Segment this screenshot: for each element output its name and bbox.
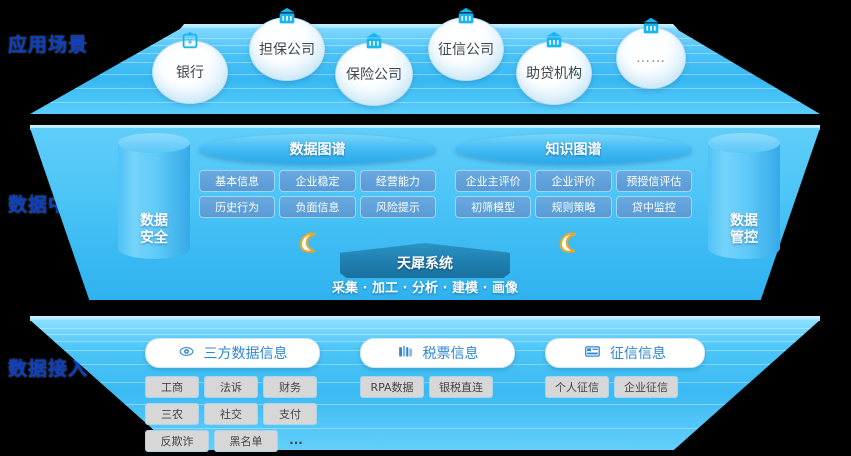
scenario-bubble-insurance[interactable]: 保险公司 (335, 42, 413, 106)
scenario-bubble-label: …… (636, 50, 666, 66)
panel-knowledge-graph: 知识图谱 企业主评价 企业评价 预授信评估 初筛模型 规则策略 贷中监控 (455, 134, 692, 218)
bank-building-icon (276, 6, 298, 28)
tag-item[interactable]: 风险提示 (360, 196, 436, 218)
tag-item[interactable]: 预授信评估 (616, 170, 692, 192)
source-header[interactable]: 税票信息 (360, 338, 515, 368)
architecture-diagram: 应用场景 数据中台 数据接入 银行 ¥ 担保公司 (0, 0, 851, 456)
tag-item[interactable]: 企业评价 (535, 170, 611, 192)
data-security-cylinder[interactable]: 数据 安全 (118, 133, 190, 259)
tag-item[interactable]: 规则策略 (535, 196, 611, 218)
source-tag-list: RPA数据 银税直连 (360, 376, 515, 398)
bank-building-icon (455, 6, 477, 28)
source-tag[interactable]: 财务 (263, 376, 317, 398)
invoice-icon (397, 343, 414, 364)
scenario-bubble-credit-agency[interactable]: 征信公司 (428, 17, 504, 81)
panel-title: 知识图谱 (546, 139, 602, 159)
source-tag[interactable]: 个人征信 (545, 376, 609, 398)
panel-title: 数据图谱 (290, 139, 346, 159)
source-tag[interactable]: 银税直连 (429, 376, 493, 398)
scenario-bubble-others[interactable]: …… (616, 27, 686, 89)
source-tag[interactable]: 法诉 (204, 376, 258, 398)
swoosh-arrow-left-icon (296, 230, 322, 256)
scenario-bubble-label: 担保公司 (259, 39, 315, 59)
source-tag[interactable]: 黑名单 (214, 430, 278, 452)
source-tax-invoice: 税票信息 RPA数据 银税直连 (360, 338, 515, 398)
credit-card-icon (584, 343, 601, 364)
scenario-bubble-bank[interactable]: 银行 ¥ (152, 40, 228, 104)
layer-label-application: 应用场景 (8, 30, 88, 57)
scenario-bubble-loan-agency[interactable]: 助贷机构 (516, 41, 592, 105)
scenario-bubble-label: 征信公司 (438, 39, 494, 59)
scenario-bubble-label: 保险公司 (346, 64, 402, 84)
source-tag[interactable]: 三农 (145, 403, 199, 425)
source-tag[interactable]: RPA数据 (360, 376, 424, 398)
panel-knowledge-graph-header[interactable]: 知识图谱 (455, 134, 692, 164)
core-system-subtitle: 采集 · 加工 · 分析 · 建模 · 画像 (310, 277, 540, 296)
bank-building-icon (543, 30, 565, 52)
panel-data-graph-header[interactable]: 数据图谱 (199, 134, 436, 164)
application-platform (30, 28, 820, 114)
scenario-bubble-guarantee[interactable]: 担保公司 (249, 17, 325, 81)
data-governance-cylinder[interactable]: 数据 管控 (708, 133, 780, 259)
source-header[interactable]: 三方数据信息 (145, 338, 320, 368)
tag-item[interactable]: 负面信息 (279, 196, 355, 218)
svg-text:¥: ¥ (187, 37, 192, 47)
bank-building-icon (640, 16, 662, 38)
source-tag-list: 个人征信 企业征信 (545, 376, 705, 398)
data-security-label: 数据 安全 (118, 213, 190, 247)
source-title: 税票信息 (423, 343, 479, 363)
tag-item[interactable]: 企业稳定 (279, 170, 355, 192)
source-tag[interactable]: 反欺诈 (145, 430, 209, 452)
source-tag-list: 工商 法诉 财务 三农 社交 支付 反欺诈 黑名单 ... (145, 376, 320, 452)
source-tag[interactable]: 工商 (145, 376, 199, 398)
tag-item[interactable]: 企业主评价 (455, 170, 531, 192)
source-tag[interactable]: 支付 (263, 403, 317, 425)
source-third-party-data: 三方数据信息 工商 法诉 财务 三农 社交 支付 反欺诈 黑名单 ... (145, 338, 320, 452)
eye-icon (178, 343, 195, 364)
panel-knowledge-graph-tags: 企业主评价 企业评价 预授信评估 初筛模型 规则策略 贷中监控 (455, 170, 692, 218)
source-credit-report: 征信信息 个人征信 企业征信 (545, 338, 705, 398)
data-governance-label: 数据 管控 (708, 213, 780, 247)
core-system-title: 天犀系统 (397, 253, 453, 273)
bank-money-icon: ¥ (179, 29, 201, 51)
tag-item[interactable]: 贷中监控 (616, 196, 692, 218)
source-tag[interactable]: 社交 (204, 403, 258, 425)
tag-item[interactable]: 经营能力 (360, 170, 436, 192)
swoosh-arrow-right-icon (556, 230, 582, 256)
panel-data-graph-tags: 基本信息 企业稳定 经营能力 历史行为 负面信息 风险提示 (199, 170, 436, 218)
source-title: 三方数据信息 (204, 343, 288, 363)
source-tag[interactable]: 企业征信 (614, 376, 678, 398)
scenario-bubble-label: 银行 (176, 62, 204, 82)
tag-item[interactable]: 初筛模型 (455, 196, 531, 218)
tag-item[interactable]: 历史行为 (199, 196, 275, 218)
source-more-dots[interactable]: ... (283, 430, 309, 450)
tag-item[interactable]: 基本信息 (199, 170, 275, 192)
source-header[interactable]: 征信信息 (545, 338, 705, 368)
scenario-bubble-label: 助贷机构 (526, 63, 582, 83)
bank-building-icon (363, 31, 385, 53)
source-title: 征信信息 (610, 343, 666, 363)
panel-data-graph: 数据图谱 基本信息 企业稳定 经营能力 历史行为 负面信息 风险提示 (199, 134, 436, 218)
